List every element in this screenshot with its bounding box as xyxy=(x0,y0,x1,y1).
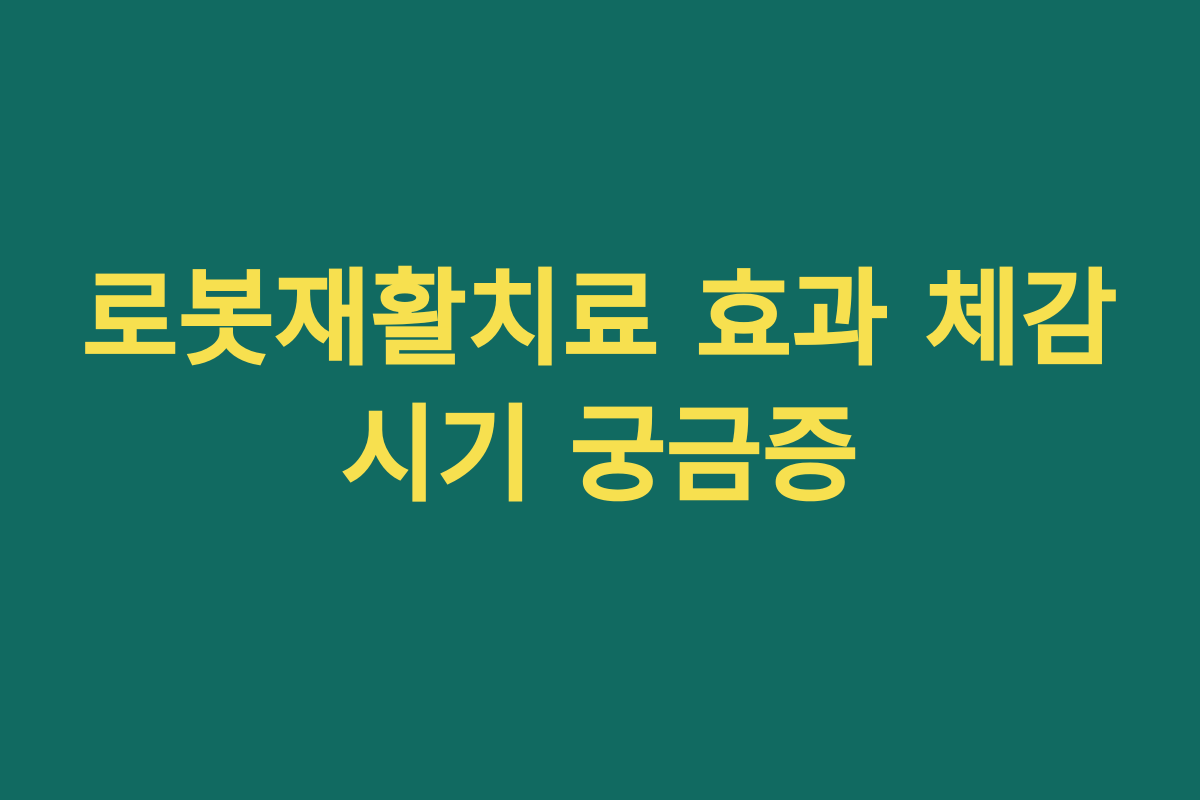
headline-block: 로봇재활치료 효과 체감 시기 궁금증 xyxy=(0,251,1200,523)
headline-line-2: 시기 궁금증 xyxy=(40,387,1160,523)
thumbnail-card: 로봇재활치료 효과 체감 시기 궁금증 xyxy=(0,0,1200,800)
headline-line-1: 로봇재활치료 효과 체감 xyxy=(40,251,1160,387)
